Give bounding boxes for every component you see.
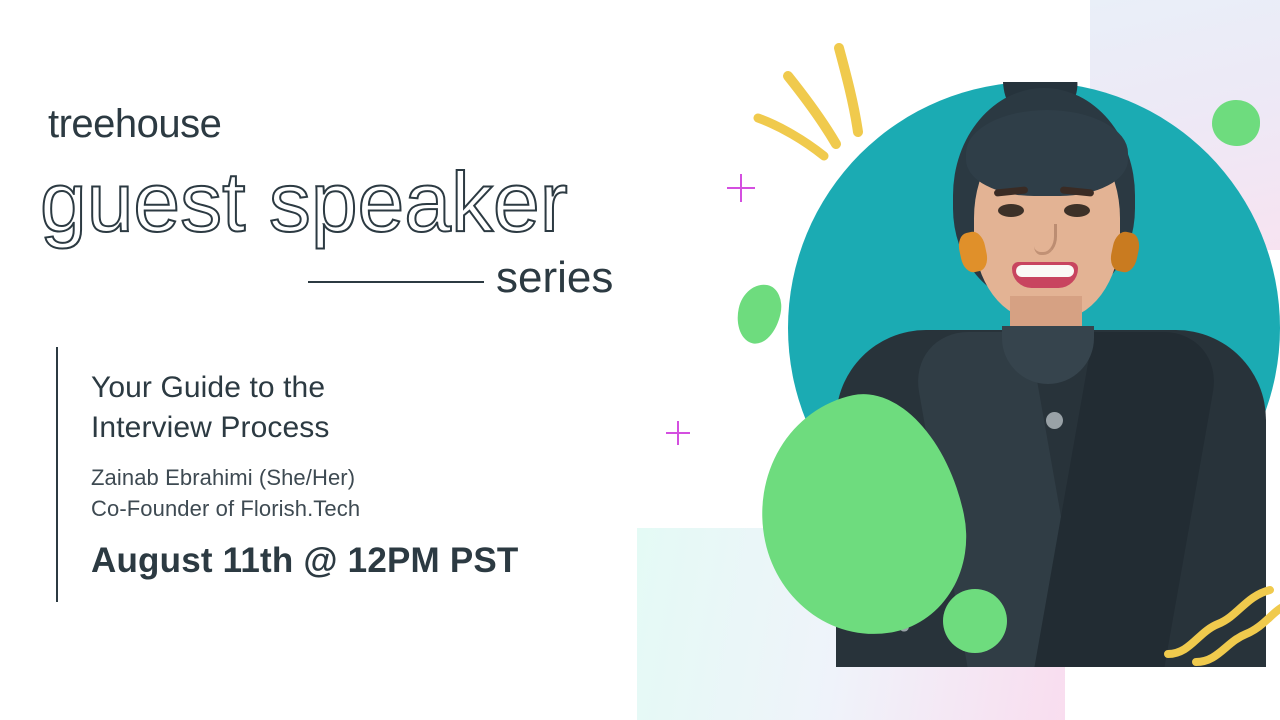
series-rule-divider — [308, 281, 484, 283]
vertical-divider — [56, 347, 58, 602]
eye-left — [998, 204, 1024, 217]
event-details: Your Guide to the Interview Process Zain… — [91, 368, 611, 580]
mouth — [1012, 262, 1078, 288]
jacket-stud — [1046, 412, 1063, 429]
yellow-rays-icon — [740, 30, 920, 210]
brand-wordmark: treehouse — [48, 104, 221, 144]
green-circle-bottom — [943, 589, 1007, 653]
magenta-plus-icon — [727, 174, 755, 202]
talk-title-line-1: Your Guide to the — [91, 368, 611, 408]
green-circle-top-right — [1212, 100, 1260, 146]
hair-front — [966, 110, 1128, 196]
eye-right — [1064, 204, 1090, 217]
promo-slide: treehouse guest speaker series Your Guid… — [0, 0, 1280, 720]
event-datetime: August 11th @ 12PM PST — [91, 542, 611, 581]
yellow-squiggles-icon — [1160, 580, 1280, 670]
series-word: series — [496, 256, 613, 300]
talk-title-line-2: Interview Process — [91, 408, 611, 448]
green-blob-small — [732, 280, 786, 347]
speaker-role: Co-Founder of Florish.Tech — [91, 494, 611, 524]
teeth — [1016, 265, 1074, 277]
speaker-name: Zainab Ebrahimi (She/Her) — [91, 463, 611, 493]
magenta-plus-icon — [666, 421, 690, 445]
series-headline: guest speaker — [40, 160, 568, 244]
